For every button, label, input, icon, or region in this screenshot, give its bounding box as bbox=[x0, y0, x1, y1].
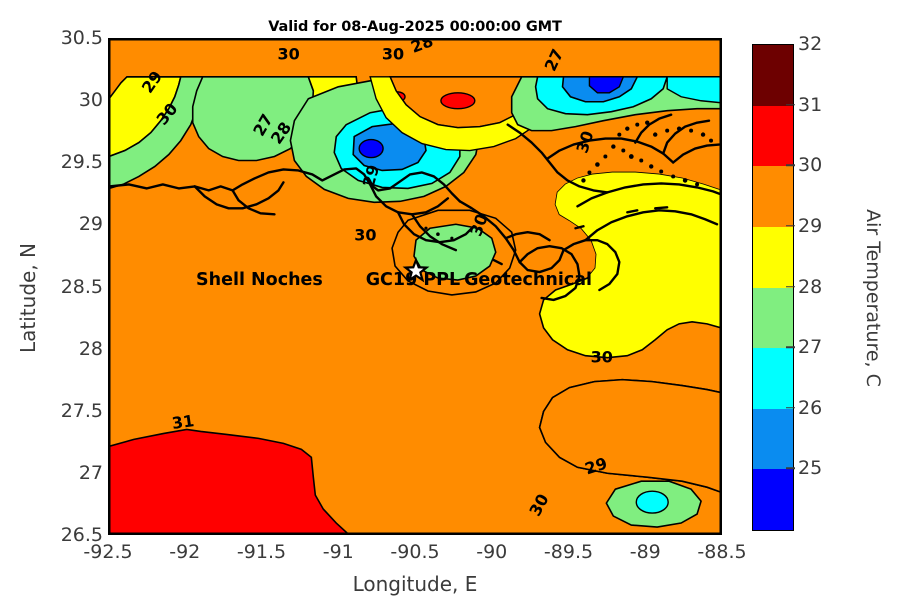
contour-label-31: 31 bbox=[170, 411, 195, 433]
station-label[interactable]: Shell Noches bbox=[196, 270, 323, 290]
y-tick-label: 28.5 bbox=[61, 276, 103, 298]
colorbar-title: Air Temperature, C bbox=[862, 168, 884, 428]
colorbar-tick-label: 29 bbox=[798, 215, 822, 237]
colorbar-tick-label: 32 bbox=[798, 33, 822, 55]
x-tick-label: -91.5 bbox=[237, 541, 286, 563]
x-tick-label: -92 bbox=[169, 541, 200, 563]
contour-plot-area[interactable]: 29303030282728273029303030293031 Shell N… bbox=[108, 38, 722, 535]
x-axis-title: Longitude, E bbox=[108, 572, 722, 596]
y-axis-title: Latitude, N bbox=[16, 188, 40, 408]
x-tick-label: -90 bbox=[476, 541, 507, 563]
x-tick-label: -89 bbox=[630, 541, 661, 563]
x-axis-ticks: -92.5-92-91.5-91-90.5-90-89.5-89-88.5 bbox=[0, 541, 900, 571]
colorbar-tick-mark bbox=[786, 468, 795, 470]
x-tick-label: -89.5 bbox=[544, 541, 593, 563]
station-label[interactable]: Geotechnical bbox=[464, 270, 592, 290]
y-tick-label: 27 bbox=[79, 462, 103, 484]
y-tick-label: 30 bbox=[79, 89, 103, 111]
y-tick-label: 30.5 bbox=[61, 27, 103, 49]
y-tick-label: 27.5 bbox=[61, 400, 103, 422]
y-tick-label: 29 bbox=[79, 213, 103, 235]
colorbar-tick-label: 28 bbox=[798, 276, 822, 298]
contour-label-30: 30 bbox=[277, 44, 299, 63]
colorbar-tick-mark bbox=[786, 286, 795, 288]
colorbar-tick-label: 26 bbox=[798, 397, 822, 419]
colorbar-tick-label: 25 bbox=[798, 457, 822, 479]
x-tick-label: -90.5 bbox=[390, 541, 439, 563]
colorbar-tick-label: 30 bbox=[798, 154, 822, 176]
station-star-icon[interactable] bbox=[401, 256, 431, 286]
contour-label-30: 30 bbox=[591, 348, 613, 367]
colorbar-tick-mark bbox=[786, 104, 795, 106]
colorbar-tick-mark bbox=[786, 407, 795, 409]
colorbar-tick-label: 31 bbox=[798, 94, 822, 116]
colorbar-tick-mark bbox=[786, 165, 795, 167]
x-tick-label: -92.5 bbox=[83, 541, 132, 563]
figure-root: Valid for 08-Aug-2025 00:00:00 GMT bbox=[0, 0, 900, 600]
chart-title: Valid for 08-Aug-2025 00:00:00 GMT bbox=[108, 19, 722, 35]
contour-label-30: 30 bbox=[382, 44, 404, 63]
y-tick-label: 28 bbox=[79, 338, 103, 360]
contour-label-30: 30 bbox=[354, 226, 376, 245]
colorbar-tick-mark bbox=[786, 225, 795, 227]
colorbar-tick-label: 27 bbox=[798, 336, 822, 358]
y-tick-label: 29.5 bbox=[61, 151, 103, 173]
colorbar-tick-mark bbox=[786, 346, 795, 348]
x-tick-label: -91 bbox=[323, 541, 354, 563]
x-tick-label: -88.5 bbox=[697, 541, 746, 563]
